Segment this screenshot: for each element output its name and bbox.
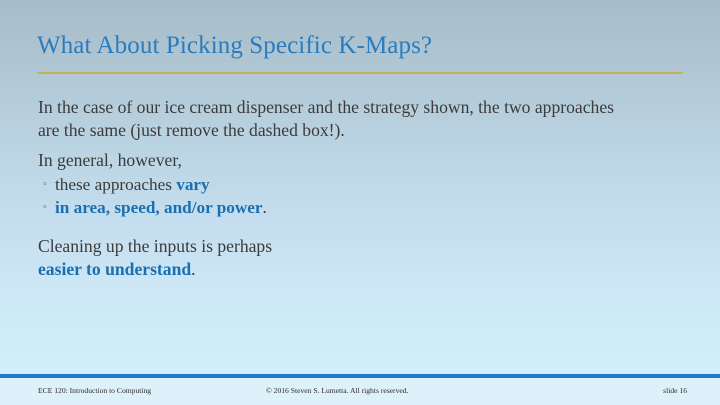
list-item: ◦in area, speed, and/or power. <box>38 197 638 219</box>
bullet-list: ◦these approaches vary ◦in area, speed, … <box>38 174 638 219</box>
closing-highlight: easier to understand <box>38 259 191 279</box>
list-item: ◦these approaches vary <box>38 174 638 196</box>
list-item-highlight: in area, speed, and/or power <box>55 198 263 217</box>
bullet-circle-icon: ◦ <box>43 174 47 195</box>
slide-canvas: What About Picking Specific K-Maps? In t… <box>0 0 720 405</box>
title-divider-rule <box>37 72 683 74</box>
title-block: What About Picking Specific K-Maps? <box>37 32 683 61</box>
closing-line-2: easier to understand. <box>38 258 638 281</box>
list-item-text: these approaches <box>55 175 176 194</box>
closing-text: Cleaning up the inputs is perhaps <box>38 236 272 256</box>
footer-copyright-label: © 2016 Steven S. Lumetta. All rights res… <box>266 386 408 395</box>
slide-body: In the case of our ice cream dispenser a… <box>38 96 638 288</box>
footer-course-label: ECE 120: Introduction to Computing <box>38 386 151 395</box>
bullet-circle-icon: ◦ <box>43 197 47 218</box>
closing-tail: . <box>191 259 195 279</box>
footer-slide-number: slide 16 <box>663 386 687 395</box>
list-item-highlight: vary <box>176 175 209 194</box>
slide-footer: ECE 120: Introduction to Computing © 201… <box>0 378 720 405</box>
body-paragraph-2: In general, however, <box>38 149 638 172</box>
body-paragraph-1: In the case of our ice cream dispenser a… <box>38 96 638 142</box>
page-title: What About Picking Specific K-Maps? <box>37 32 683 61</box>
list-item-tail: . <box>263 198 267 217</box>
body-paragraph-3: Cleaning up the inputs is perhaps easier… <box>38 235 638 281</box>
